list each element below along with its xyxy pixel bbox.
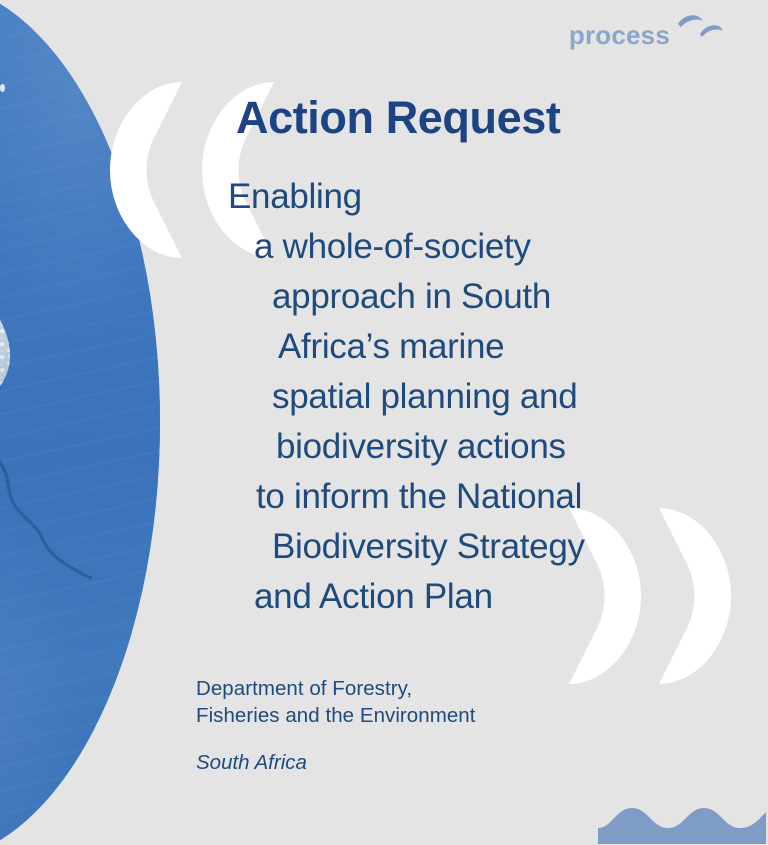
logo-wordmark: process <box>569 22 670 48</box>
quote-line: Enabling <box>228 172 728 222</box>
quote-text: Enabling a whole-of-society approach in … <box>228 172 728 622</box>
process-logo[interactable]: process <box>569 12 724 48</box>
quote-line: approach in South <box>228 272 728 322</box>
quote-line: Africa’s marine <box>228 322 728 372</box>
country-label: South Africa <box>196 749 716 776</box>
quote-line: spatial planning and <box>228 372 728 422</box>
action-request-card: Credit: Single Fin Photos / Ocean Image … <box>0 0 768 845</box>
page-title: Action Request <box>236 95 560 140</box>
two-wave-fin-mark-icon <box>676 12 724 46</box>
organization-line: Department of Forestry, <box>196 675 716 702</box>
attribution-block: Department of Forestry, Fisheries and th… <box>196 675 716 776</box>
quote-line: Biodiversity Strategy <box>228 522 728 572</box>
quote-line: and Action Plan <box>228 572 728 622</box>
quote-line: a whole-of-society <box>228 222 728 272</box>
quote-line: biodiversity actions <box>228 422 728 472</box>
quote-line: to inform the National <box>228 472 728 522</box>
content-area: process Action Request Enabling a whole-… <box>0 0 768 845</box>
organization-line: Fisheries and the Environment <box>196 702 716 729</box>
